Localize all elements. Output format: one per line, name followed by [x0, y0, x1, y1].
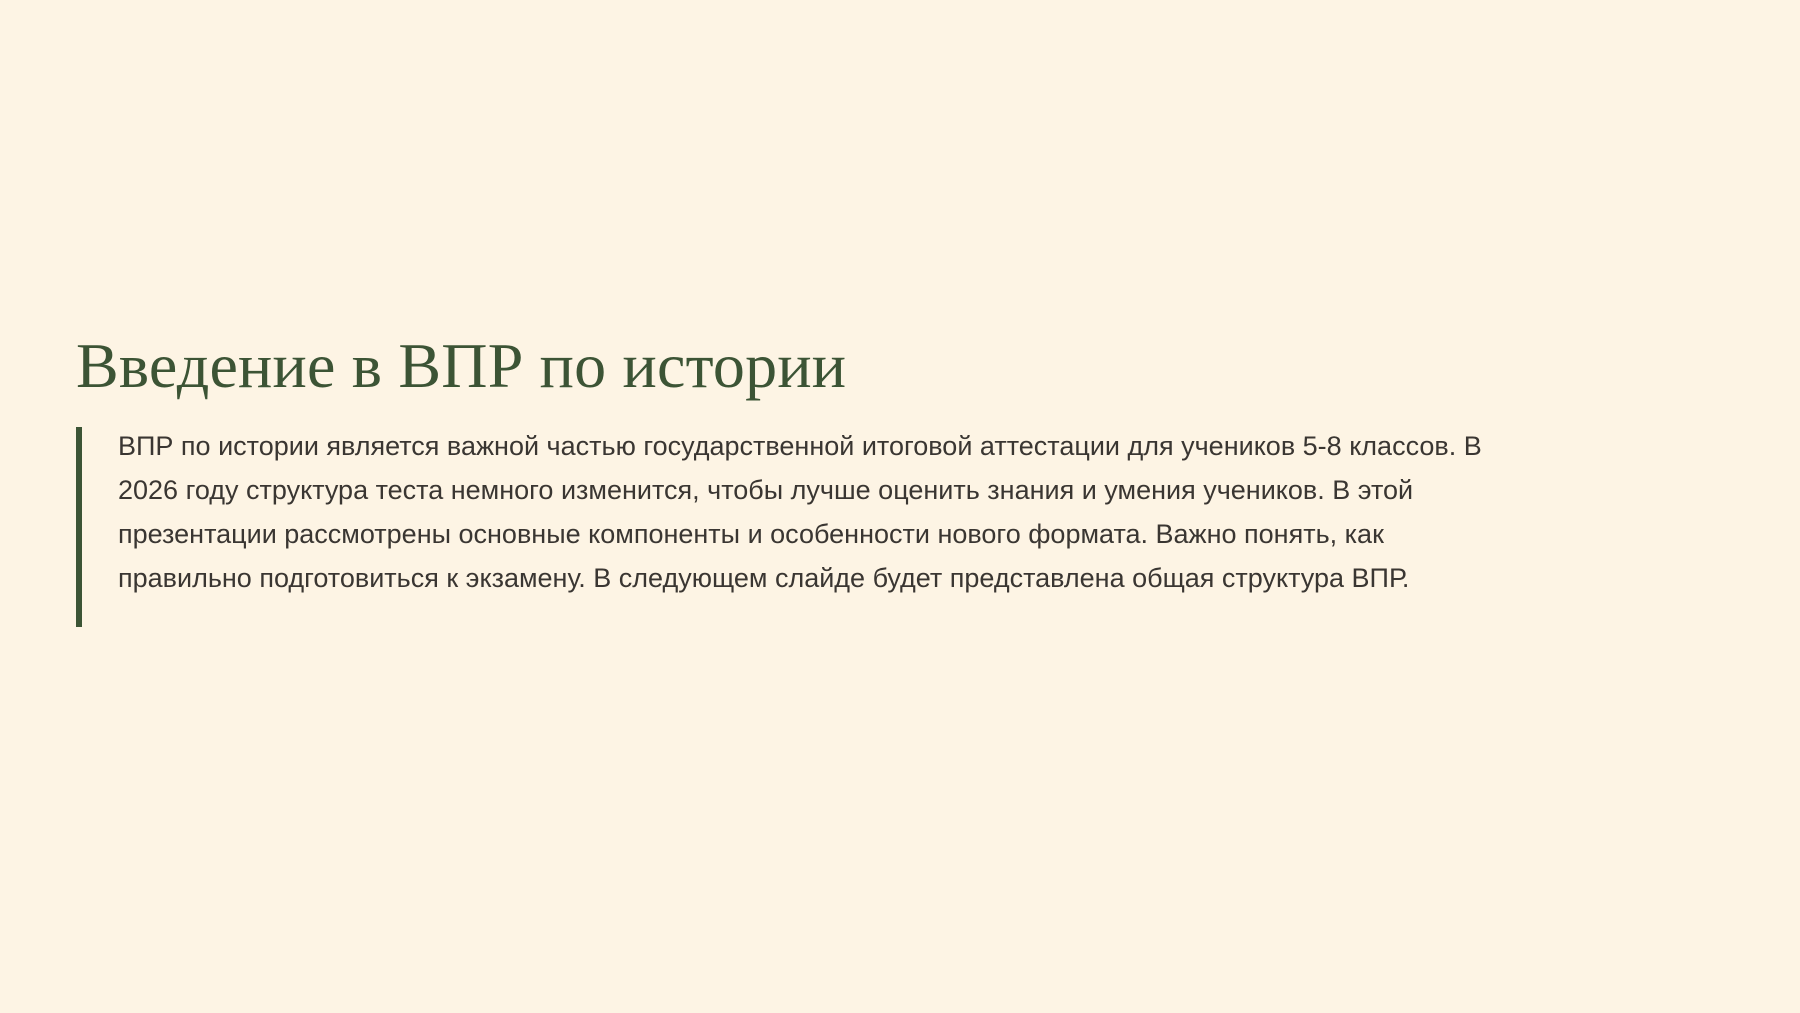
slide-content: Введение в ВПР по истории ВПР по истории… — [76, 330, 1696, 600]
slide-body-block: ВПР по истории является важной частью го… — [76, 424, 1696, 600]
accent-bar — [76, 427, 82, 627]
presentation-slide: Введение в ВПР по истории ВПР по истории… — [0, 0, 1800, 1013]
slide-title: Введение в ВПР по истории — [76, 330, 1696, 402]
slide-body-text: ВПР по истории является важной частью го… — [118, 424, 1493, 600]
